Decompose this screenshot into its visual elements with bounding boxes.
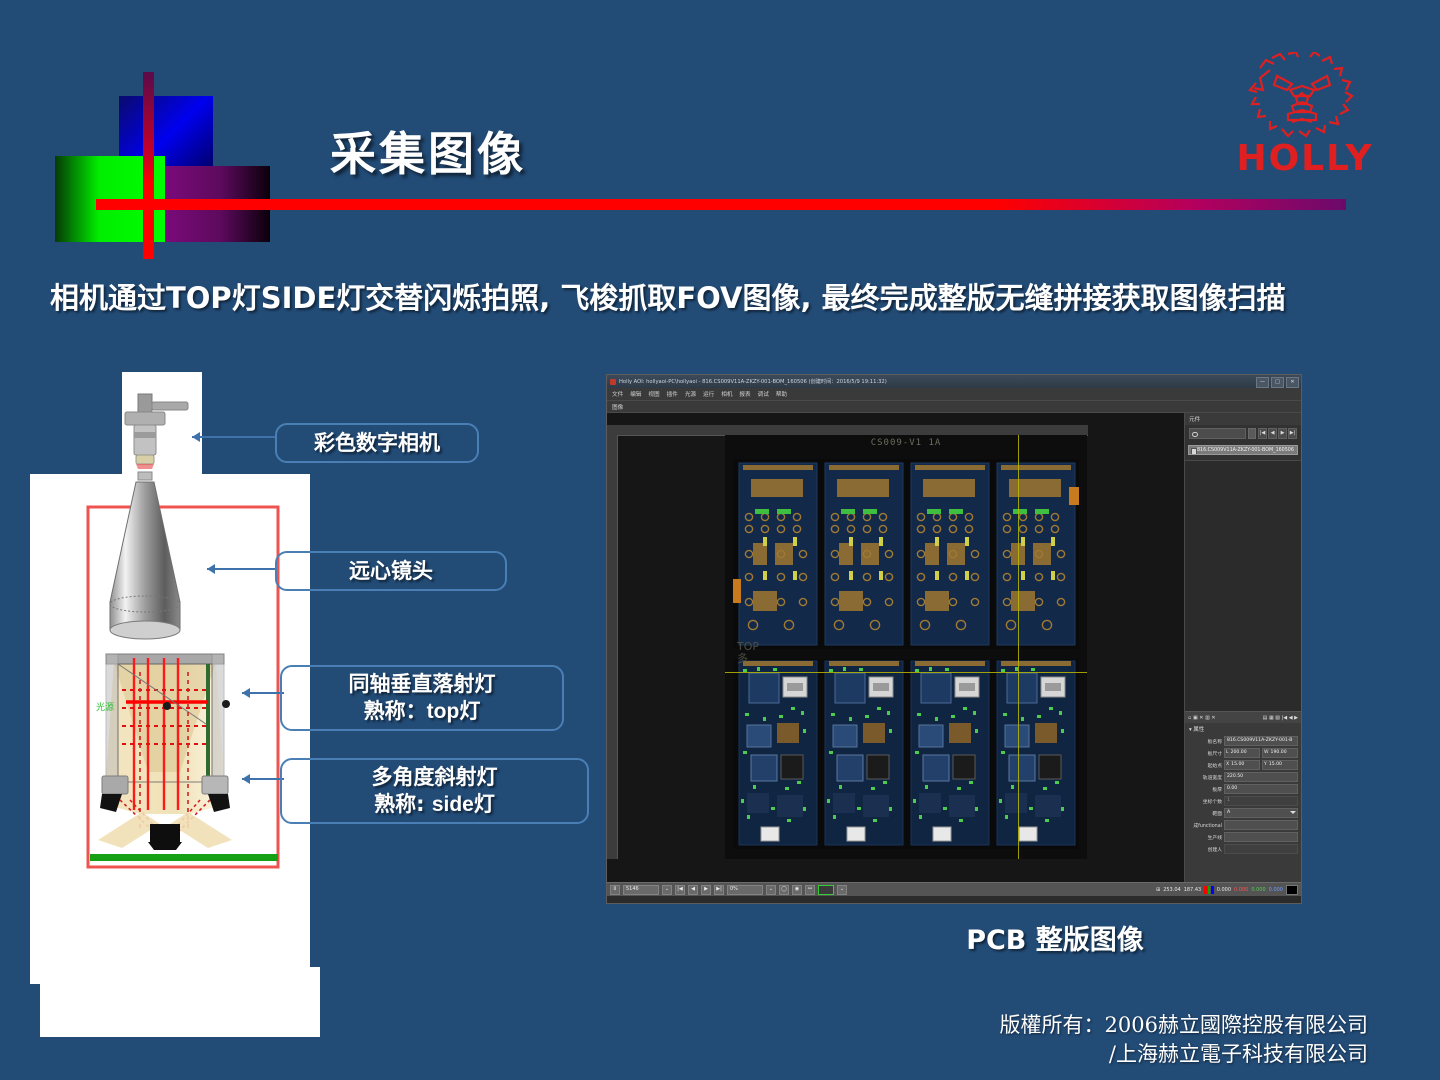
property-value-production-line[interactable] [1224,832,1298,842]
secondary-toolbar[interactable]: 图像 [607,401,1301,413]
property-value-origin-y[interactable]: Y 15.00 [1262,760,1298,770]
property-key-x: X [1226,761,1229,769]
property-value-rail-width[interactable]: 220.50 [1224,772,1298,782]
callout-top-line2-suffix: 灯 [459,699,480,723]
rect-select-icon[interactable] [818,885,834,895]
copyright-notice: 版權所有：2006赫立國際控股有限公司 /上海赫立電子科技有限公司 [1000,1011,1368,1068]
subtitle-text: 相机通过TOP灯SIDE灯交替闪烁拍照, 飞梭抓取FOV图像, 最终完成整版无缝… [50,275,1400,317]
property-label-target-face: 靶面 [1188,810,1222,817]
coordinate-y-value: 187.43 [1184,887,1202,893]
rgb-bar-green [1208,886,1211,894]
pcb-bottom-half: TOP 多 [733,659,1079,849]
tree-item-board[interactable]: 816.CS009V11A-ZKZY-001-BOM_160506 [1188,445,1298,455]
property-value-target-face[interactable]: A [1224,808,1298,818]
property-value-board-length[interactable]: L 200.00 [1224,748,1260,758]
app-icon [610,379,616,385]
coordinate-icon: ⊞ [1156,887,1160,893]
callout-color-digital-camera: 彩色数字相机 [275,423,479,463]
pcb-board-silkscreen-text: CS009-V1 1A [725,438,1087,448]
holly-wordmark: HOLLY [1232,138,1378,179]
playback-next-button[interactable]: ▶ [701,885,711,895]
tree-empty-area [1185,460,1301,711]
property-label-production-line: 生产线 [1188,834,1222,841]
property-value-thickness[interactable]: 0.00 [1224,784,1298,794]
properties-panel: ▫ ▣ ✕ ▥ ✕ ▤ ▦ ▧ |◀ ◀ ▶ ▾ 属性 板名称 816.CS00… [1185,711,1301,882]
callout-top-line2-value: top [427,700,460,723]
search-dropdown-button[interactable] [1248,428,1256,439]
property-num-y: 15.00 [1269,761,1282,769]
aoi-software-window: Holly AOI: hollyaoi-PC\hollyaoi - 816.CS… [606,374,1302,904]
menu-item-edit[interactable]: 编辑 [630,390,641,398]
property-row-thickness[interactable]: 板厚 0.00 [1185,783,1301,795]
copyright-line-1: 版權所有：2006赫立國際控股有限公司 [1000,1011,1368,1039]
menu-item-run[interactable]: 运行 [703,390,714,398]
lion-head-icon [1230,52,1380,142]
menu-item-file[interactable]: 文件 [612,390,623,398]
property-num-width: 190.00 [1271,749,1287,757]
property-row-production-line[interactable]: 生产线 [1185,831,1301,843]
property-row-coord-count: 坐标个数 1 [1185,795,1301,807]
arrow-to-top-light [228,686,286,700]
color-swatch [1286,885,1298,895]
zoom-dropdown-icon[interactable]: ⌄ [766,885,776,895]
properties-toolbar-left-icons[interactable]: ▫ ▣ ✕ ▥ ✕ [1188,715,1216,721]
status-bar: ⌷ 5146 ⌄ |◀ ◀ ▶ ▶| 0% ⌄ ◯ ◉ ⚯ ⌄ ⊞ 253.04… [607,882,1301,896]
callout-side-line2-suffix: 灯 [474,792,495,816]
link-icon[interactable]: ⚯ [805,885,815,895]
board-tree[interactable]: 816.CS009V11A-ZKZY-001-BOM_160506 [1185,442,1301,458]
property-row-board-name[interactable]: 板名称 816.CS009V11A-ZKZY-001-B [1185,735,1301,747]
pcb-bottom-graphic [733,659,1079,849]
properties-toolbar-right-icons[interactable]: ▤ ▦ ▧ |◀ ◀ ▶ [1263,715,1298,721]
property-value-coord-count: 1 [1224,796,1298,806]
property-label-origin: 起始点 [1188,762,1222,769]
menu-item-report[interactable]: 报表 [739,390,750,398]
playback-prev-button[interactable]: ◀ [688,885,698,895]
property-row-board-size[interactable]: 板尺寸 L 200.00 W 190.00 [1185,747,1301,759]
property-value-origin-x[interactable]: X 15.00 [1224,760,1260,770]
arrow-to-lens [193,562,278,576]
maximize-button[interactable]: □ [1271,377,1284,388]
nav-first-button[interactable]: |◀ [1258,428,1267,439]
select-dropdown-icon[interactable]: ⌄ [837,885,847,895]
property-value-creator [1224,844,1298,854]
property-label-extra-1: 成functional [1188,822,1222,829]
callout-top-line2-prefix: 熟称： [364,699,427,723]
property-key-width: W [1264,749,1269,757]
rgb-bar-blue [1211,886,1214,894]
canvas-overlay-text: TOP 多 [737,641,759,664]
copyright-line-2: /上海赫立電子科技有限公司 [1000,1040,1368,1068]
property-row-target-face[interactable]: 靶面 A [1185,807,1301,819]
pcb-panel-image[interactable]: CS009-V1 1A [725,435,1087,859]
rgb-value-blue: 0.000 [1269,887,1283,893]
property-num-x: 15.00 [1231,761,1244,769]
nav-last-button[interactable]: ▶| [1288,428,1297,439]
menu-item-light[interactable]: 光源 [685,390,696,398]
menu-item-camera[interactable]: 相机 [721,390,732,398]
callout-side-line2-value: side [432,793,474,816]
svg-text:光源: 光源 [96,701,114,713]
image-canvas[interactable]: CS009-V1 1A [607,413,1184,882]
property-key-y: Y [1264,761,1267,769]
property-value-board-name[interactable]: 816.CS009V11A-ZKZY-001-B [1224,736,1298,746]
deco-vertical-red-bar [143,72,154,259]
page-title: 采集图像 [330,118,526,184]
holly-logo: HOLLY [1230,52,1380,188]
menu-bar[interactable]: 文件 编辑 视图 插件 光源 运行 相机 报表 调试 帮助 [607,388,1301,401]
callout-side-line2-prefix: 熟称: [374,792,432,816]
close-button[interactable]: ✕ [1286,377,1299,388]
property-value-board-width[interactable]: W 190.00 [1262,748,1298,758]
property-num-length: 200.00 [1231,749,1247,757]
window-body: CS009-V1 1A [607,413,1301,882]
pcb-top-graphic [733,459,1079,649]
zoom-level-value[interactable]: 0% [727,885,763,895]
tree-search-row[interactable]: |◀ ◀ ▶ ▶| [1185,425,1301,442]
property-label-coord-count: 坐标个数 [1188,798,1222,805]
slide-root: 采集图像 [0,0,1440,1080]
status-pin-icon[interactable]: ⌷ [610,885,620,895]
rgb-value-luma: 0.000 [1217,887,1231,893]
menu-item-plugin[interactable]: 插件 [667,390,678,398]
crosshair-vertical [1018,435,1019,859]
minimize-button[interactable]: — [1256,377,1269,388]
rgb-color-bars [1204,886,1214,894]
deco-horizontal-red-bar [96,199,1346,210]
property-label-board-name: 板名称 [1188,738,1222,745]
arrow-to-camera [178,430,278,444]
callout-lens-label: 远心镜头 [349,558,433,584]
property-label-thickness: 板厚 [1188,786,1222,793]
ruler-left [607,435,618,859]
frame-counter-value[interactable]: 5146 [623,885,659,895]
callout-camera-label: 彩色数字相机 [314,430,440,456]
properties-toolbar[interactable]: ▫ ▣ ✕ ▥ ✕ ▤ ▦ ▧ |◀ ◀ ▶ [1185,712,1301,723]
frame-stepper-icon[interactable]: ⌄ [662,885,672,895]
window-title-text: Holly AOI: hollyaoi-PC\hollyaoi - 816.CS… [619,378,887,385]
property-row-rail-width[interactable]: 轨道宽度 220.50 [1185,771,1301,783]
crosshair-horizontal [725,672,1087,673]
playback-last-button[interactable]: ▶| [714,885,724,895]
nav-prev-button[interactable]: ◀ [1268,428,1277,439]
playback-first-button[interactable]: |◀ [675,885,685,895]
rgb-value-red: 0.000 [1234,887,1248,893]
toolbar-image-label[interactable]: 图像 [612,403,623,411]
property-row-origin[interactable]: 起始点 X 15.00 Y 15.00 [1185,759,1301,771]
callout-top-line1: 同轴垂直落射灯 [349,672,496,696]
properties-title-label: 属性 [1193,727,1204,733]
properties-title: ▾ 属性 [1185,723,1301,735]
telecentric-lens-graphic [110,472,180,639]
tree-nav-buttons[interactable]: |◀ ◀ ▶ ▶| [1258,428,1297,439]
window-title-bar: Holly AOI: hollyaoi-PC\hollyaoi - 816.CS… [607,375,1301,388]
window-controls: — □ ✕ [1256,377,1299,388]
right-panel: 元件 |◀ ◀ ▶ ▶| 816.CS009V11A-ZKZY-001-BOM_… [1184,413,1301,882]
menu-item-debug[interactable]: 调试 [758,390,769,398]
coordinate-x-value: 253.04 [1163,887,1181,893]
property-row-extra-1[interactable]: 成functional [1185,819,1301,831]
menu-item-view[interactable]: 视图 [648,390,659,398]
property-value-extra-1[interactable] [1224,820,1298,830]
callout-side-light: 多角度斜射灯 熟称: side灯 [280,758,589,824]
menu-item-help[interactable]: 帮助 [776,390,787,398]
property-label-board-size: 板尺寸 [1188,750,1222,757]
nav-next-button[interactable]: ▶ [1278,428,1287,439]
tree-panel-header: 元件 [1185,413,1301,425]
refresh-icon[interactable]: ◯ [779,885,789,895]
globe-icon[interactable]: ◉ [792,885,802,895]
property-label-rail-width: 轨道宽度 [1188,774,1222,781]
image-caption: PCB 整版图像 [860,918,1250,957]
callout-top-light: 同轴垂直落射灯 熟称：top灯 [280,665,564,731]
rgb-value-green: 0.000 [1251,887,1265,893]
overlay-line-top: TOP [737,641,759,653]
arrow-to-side-light [228,772,286,786]
property-label-creator: 创建人 [1188,846,1222,853]
property-row-creator: 创建人 [1185,843,1301,855]
property-key-length: L [1226,749,1229,757]
rgb-bar-red [1204,886,1207,894]
search-input[interactable] [1189,428,1246,439]
pcb-top-half [733,459,1079,649]
callout-telecentric-lens: 远心镜头 [275,551,507,591]
overlay-line-duo: 多 [737,653,759,665]
callout-side-line1: 多角度斜射灯 [372,765,498,789]
